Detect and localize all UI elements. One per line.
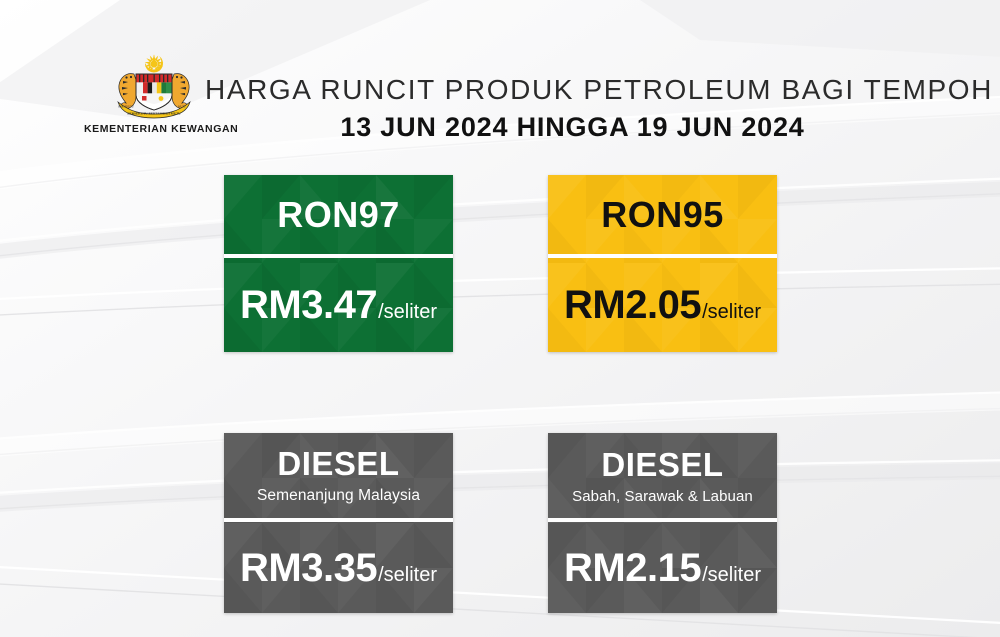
price-card-diesel-east-malaysia: DIESEL Sabah, Sarawak & Labuan RM2.15 /s… bbox=[548, 433, 777, 613]
fuel-name-label: DIESEL bbox=[601, 448, 723, 481]
price-unit-label: /seliter bbox=[702, 302, 761, 322]
fuel-name-label: DIESEL bbox=[277, 447, 399, 480]
malaysia-coat-of-arms-icon: BERSEKUTU BERTAMBAH MUTU BERSEKUTU MUTU bbox=[90, 52, 218, 120]
card-header: RON97 bbox=[224, 175, 453, 254]
ministry-name-label: KEMENTERIAN KEWANGAN bbox=[84, 123, 224, 135]
fuel-region-label: Semenanjung Malaysia bbox=[257, 488, 420, 504]
header: BERSEKUTU BERTAMBAH MUTU BERSEKUTU MUTU … bbox=[0, 0, 1000, 165]
price-value: RM3.47 bbox=[240, 285, 377, 325]
card-price-area: RM2.15 /seliter bbox=[548, 522, 777, 613]
title-line-1: HARGA RUNCIT PRODUK PETROLEUM BAGI TEMPO… bbox=[205, 72, 940, 107]
page-title: HARGA RUNCIT PRODUK PETROLEUM BAGI TEMPO… bbox=[205, 72, 940, 145]
card-price-area: RM3.47 /seliter bbox=[224, 258, 453, 352]
fuel-region-label: Sabah, Sarawak & Labuan bbox=[572, 489, 753, 504]
price-card-ron95: RON95 RM2.05 /seliter bbox=[548, 175, 777, 352]
price-value: RM2.15 bbox=[564, 548, 701, 588]
price-unit-label: /seliter bbox=[378, 565, 437, 585]
card-header: RON95 bbox=[548, 175, 777, 254]
svg-text:BERSEKUTU BERTAMBAH MUTU: BERSEKUTU BERTAMBAH MUTU bbox=[127, 112, 181, 116]
svg-text:BERSEKUTU: BERSEKUTU bbox=[118, 106, 133, 109]
price-value: RM2.05 bbox=[564, 285, 701, 325]
fuel-name-label: RON95 bbox=[601, 197, 724, 233]
card-price-area: RM2.05 /seliter bbox=[548, 258, 777, 352]
price-card-ron97: RON97 RM3.47 /seliter bbox=[224, 175, 453, 352]
svg-text:MUTU: MUTU bbox=[178, 106, 186, 109]
ministry-logo-block: BERSEKUTU BERTAMBAH MUTU BERSEKUTU MUTU … bbox=[84, 52, 224, 135]
price-unit-label: /seliter bbox=[378, 302, 437, 322]
price-value: RM3.35 bbox=[240, 548, 377, 588]
card-header: DIESEL Sabah, Sarawak & Labuan bbox=[548, 433, 777, 518]
price-unit-label: /seliter bbox=[702, 565, 761, 585]
fuel-name-label: RON97 bbox=[277, 197, 400, 233]
card-price-area: RM3.35 /seliter bbox=[224, 522, 453, 613]
price-card-diesel-peninsular: DIESEL Semenanjung Malaysia RM3.35 /seli… bbox=[224, 433, 453, 613]
title-line-2: 13 JUN 2024 HINGGA 19 JUN 2024 bbox=[205, 110, 940, 145]
card-header: DIESEL Semenanjung Malaysia bbox=[224, 433, 453, 518]
